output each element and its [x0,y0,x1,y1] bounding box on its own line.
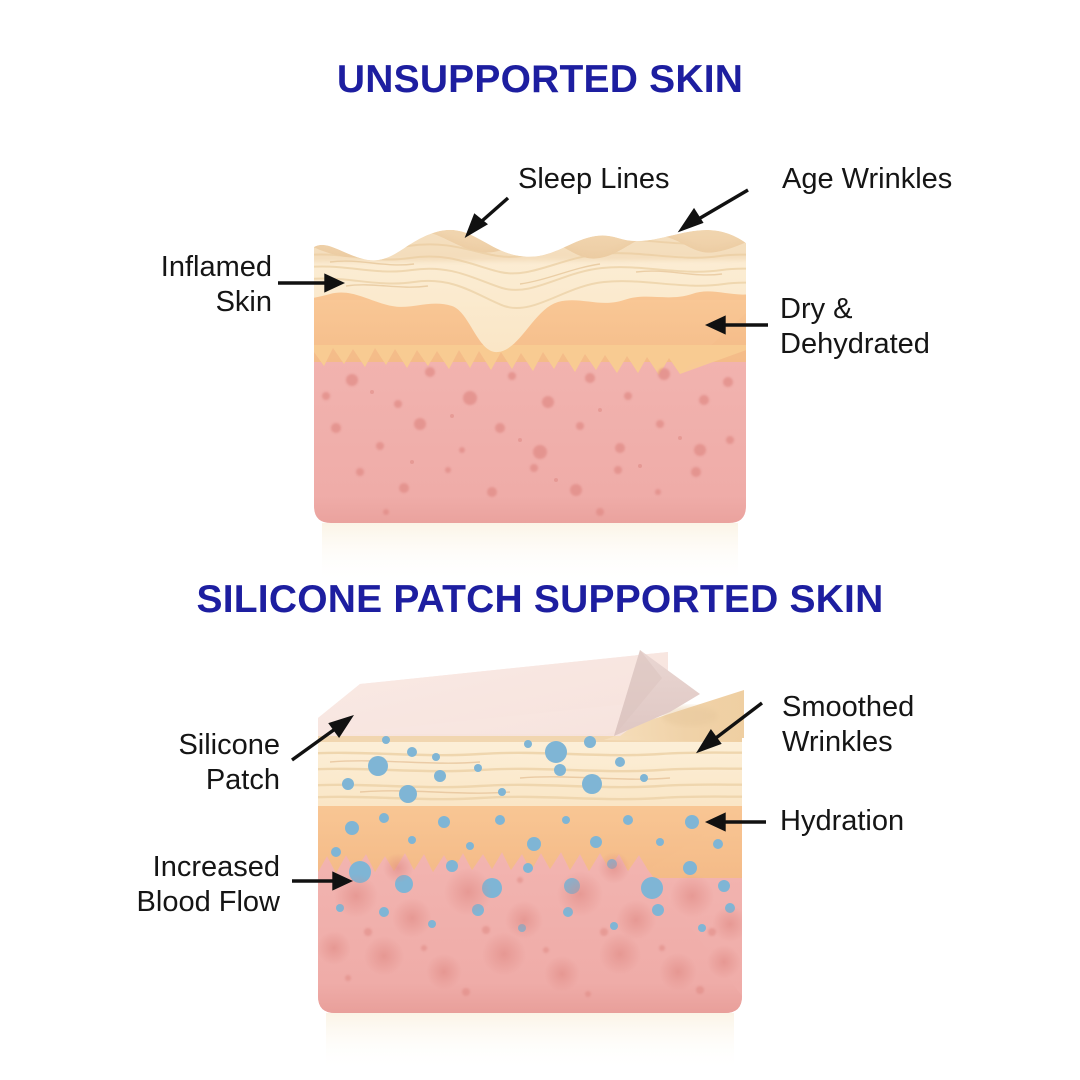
label-increased-blood-flow: Increased Blood Flow [30,850,280,920]
label-smoothed-wrinkles: Smoothed Wrinkles [782,690,1032,760]
label-inflamed-skin: Inflamed Skin [40,250,272,320]
label-sleep-lines: Sleep Lines [518,162,748,197]
supported-skin-block [300,650,760,1030]
label-hydration: Hydration [780,804,1010,839]
reflection-top [322,523,738,583]
unsupported-skin-block [300,200,760,540]
infographic-canvas: UNSUPPORTED SKIN SILICONE PATCH SUPPORTE… [0,0,1080,1080]
label-age-wrinkles: Age Wrinkles [782,162,1022,197]
reflection-bottom [326,1013,734,1071]
label-silicone-patch: Silicone Patch [48,728,280,798]
label-dry-dehydrated: Dry & Dehydrated [780,292,1030,362]
